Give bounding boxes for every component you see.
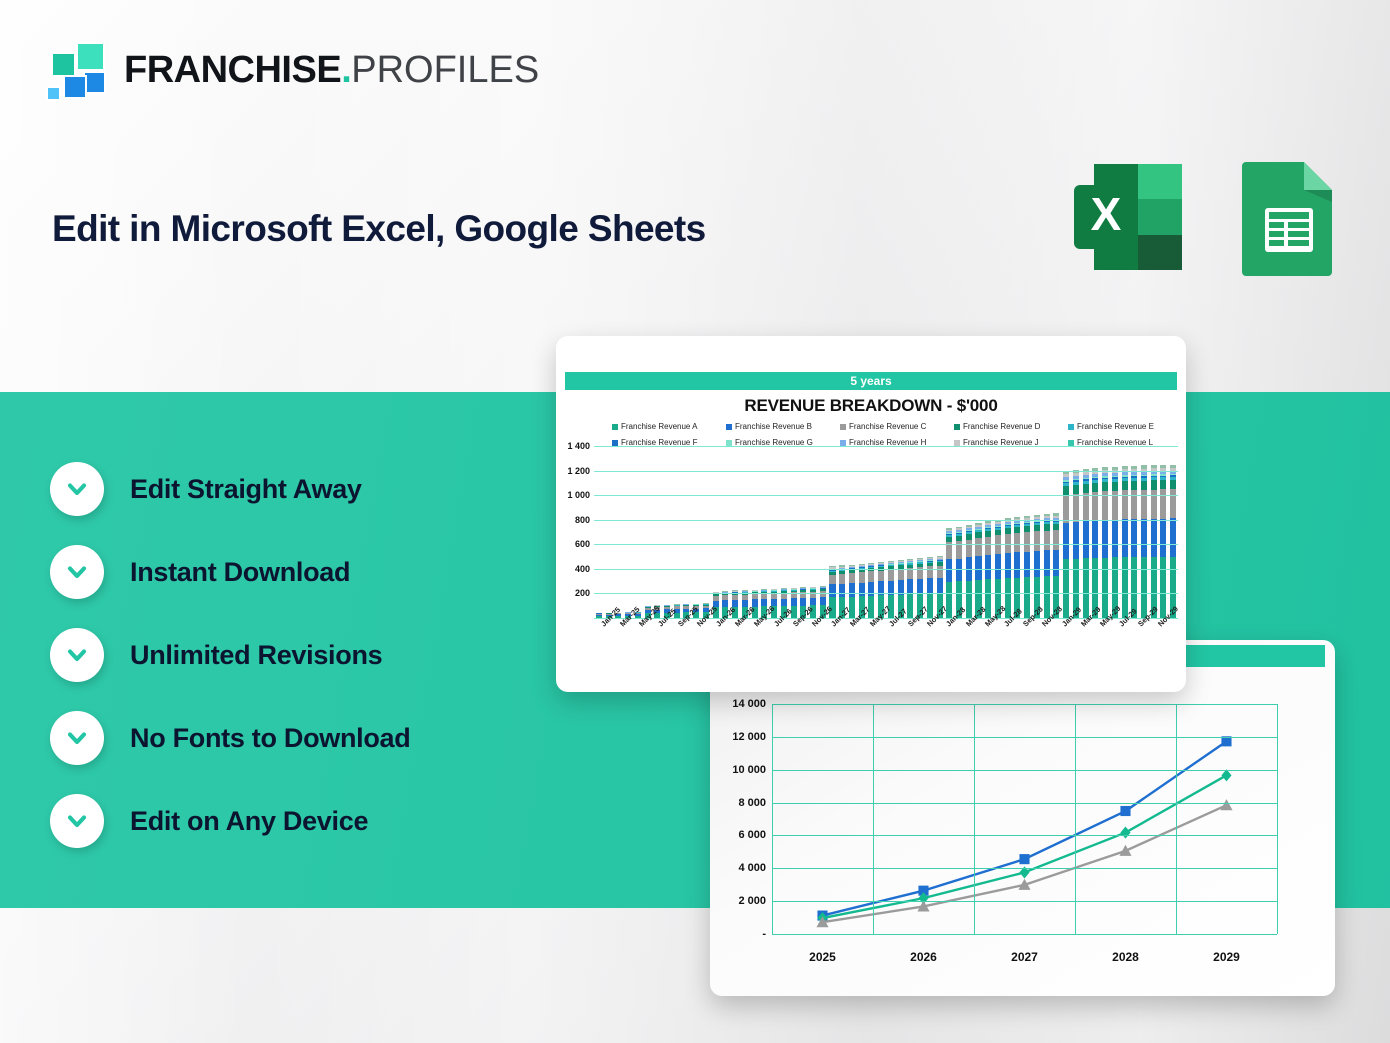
bar-slot [1159, 446, 1169, 618]
x-axis-tick-label: 2028 [1112, 950, 1139, 964]
chevron-down-icon [50, 545, 104, 599]
bar-slot [1139, 446, 1149, 618]
line-series [822, 775, 1226, 918]
bar-segment [1083, 493, 1089, 521]
bar-segment [1092, 492, 1098, 521]
revenue-breakdown-card: 5 years REVENUE BREAKDOWN - $'000 Franch… [556, 336, 1186, 692]
legend-label: Franchise Revenue B [735, 422, 812, 431]
y-axis-tick-label: 1 400 [567, 441, 590, 451]
stacked-bar[interactable] [1131, 466, 1137, 618]
y-axis-tick-label: 600 [575, 539, 590, 549]
bar-segment [937, 578, 943, 594]
bar-slot [779, 446, 789, 618]
bar-segment [1131, 519, 1137, 557]
list-item[interactable]: Edit Straight Away [50, 462, 410, 516]
y-axis-tick-label: 1 000 [567, 490, 590, 500]
bar-slot [847, 446, 857, 618]
bar-slot [886, 446, 896, 618]
bar-slot [798, 446, 808, 618]
bar-slot [974, 446, 984, 618]
stacked-bar[interactable] [1141, 465, 1147, 618]
stacked-bar[interactable] [907, 559, 913, 618]
gridline-vertical [974, 704, 975, 934]
legend-swatch [840, 424, 846, 430]
gridline [594, 569, 1178, 570]
gridline [594, 520, 1178, 521]
stacked-bar[interactable] [1092, 468, 1098, 618]
feature-label: Edit Straight Away [130, 474, 362, 505]
stacked-bar[interactable] [1122, 466, 1128, 618]
bar-slot [662, 446, 672, 618]
bar-segment [1102, 558, 1108, 618]
gridline-vertical [1176, 704, 1177, 934]
bar-segment [1141, 519, 1147, 557]
bar-segment [888, 570, 894, 581]
bar-slot [1110, 446, 1120, 618]
bar-slot [1149, 446, 1159, 618]
bar-segment [1170, 489, 1176, 518]
bar-slot [983, 446, 993, 618]
data-point-marker[interactable] [1019, 854, 1029, 864]
stacked-bar[interactable] [1024, 516, 1030, 618]
bar-slot [837, 446, 847, 618]
feature-label: Instant Download [130, 557, 350, 588]
bar-segment [1063, 495, 1069, 523]
chevron-down-icon [50, 794, 104, 848]
bar-segment [829, 575, 835, 585]
bar-slot [964, 446, 974, 618]
bar-segment [985, 555, 991, 579]
microsoft-excel-icon: X [1064, 152, 1194, 282]
revenue-chart-y-axis: 1 4001 2001 000800600400200 [556, 446, 594, 618]
gross-margin-card: ber 2029 oss Margin 14 00012 00010 0008 … [710, 640, 1335, 996]
bar-slot [808, 446, 818, 618]
bar-slot [1022, 446, 1032, 618]
bar-segment [1053, 530, 1059, 550]
bar-segment [742, 600, 748, 607]
chevron-down-icon [50, 711, 104, 765]
bar-segment [1034, 531, 1040, 551]
bar-segment [1122, 557, 1128, 618]
bar-slot [613, 446, 623, 618]
bar-slot [604, 446, 614, 618]
bar-slot [1032, 446, 1042, 618]
bar-slot [1052, 446, 1062, 618]
bar-segment [761, 599, 767, 606]
bar-segment [927, 578, 933, 593]
bar-slot [633, 446, 643, 618]
bar-segment [1024, 532, 1030, 551]
bar-segment [1024, 552, 1030, 578]
bar-slot [1129, 446, 1139, 618]
gridline [772, 868, 1277, 869]
x-axis-tick-label: 2027 [1011, 950, 1038, 964]
bar-segment [752, 599, 758, 606]
gridline [772, 901, 1277, 902]
gridline [594, 446, 1178, 447]
bar-slot [1120, 446, 1130, 618]
app-icons-group: X [1064, 152, 1352, 282]
bar-segment [1034, 551, 1040, 577]
gridline-vertical [873, 704, 874, 934]
legend-label: Franchise Revenue A [621, 422, 698, 431]
stacked-bar[interactable] [1112, 467, 1118, 618]
y-axis-tick-label: 1 200 [567, 466, 590, 476]
bar-segment [1073, 485, 1079, 494]
bar-segment [732, 600, 738, 607]
bar-segment [1092, 520, 1098, 558]
gridline [772, 934, 1277, 935]
bar-segment [946, 582, 952, 618]
bar-segment [917, 579, 923, 594]
bar-segment [1160, 489, 1166, 518]
bar-segment [829, 584, 835, 597]
bar-segment [995, 554, 1001, 579]
stacked-bar[interactable] [966, 525, 972, 618]
stacked-bar[interactable] [1053, 513, 1059, 618]
brand-name-light: PROFILES [351, 49, 539, 91]
gross-margin-plot [772, 704, 1277, 934]
bar-slot [1100, 446, 1110, 618]
bar-segment [975, 538, 981, 556]
bar-slot [954, 446, 964, 618]
bar-segment [1102, 520, 1108, 558]
bar-segment [868, 571, 874, 582]
gridline [594, 495, 1178, 496]
y-axis-tick-label: 400 [575, 564, 590, 574]
bar-slot [740, 446, 750, 618]
legend-item: Franchise Revenue A [612, 420, 724, 433]
bar-segment [1053, 550, 1059, 576]
bar-slot [896, 446, 906, 618]
legend-swatch [726, 424, 732, 430]
gridline [594, 471, 1178, 472]
legend-item: Franchise Revenue B [726, 420, 838, 433]
data-point-marker[interactable] [1120, 806, 1130, 816]
legend-swatch [840, 440, 846, 446]
bar-slot [925, 446, 935, 618]
gross-margin-y-axis: 14 00012 00010 0008 0006 0004 0002 000- [710, 704, 772, 934]
bar-segment [898, 569, 904, 580]
stacked-bar[interactable] [956, 526, 962, 618]
bar-slot [643, 446, 653, 618]
bar-segment [937, 566, 943, 578]
data-point-marker[interactable] [1221, 769, 1231, 781]
legend-label: Franchise Revenue D [963, 422, 1040, 431]
brand-name-bold: FRANCHISE [124, 49, 341, 91]
x-axis-tick-label: 2026 [910, 950, 937, 964]
bar-slot [730, 446, 740, 618]
bar-slot [594, 446, 604, 618]
bar-slot [721, 446, 731, 618]
bar-segment [1122, 481, 1128, 490]
stacked-bar[interactable] [1014, 517, 1020, 618]
bar-slot [935, 446, 945, 618]
bar-slot [857, 446, 867, 618]
bar-slot [750, 446, 760, 618]
bar-segment [878, 571, 884, 582]
gridline-vertical [1277, 704, 1278, 934]
bar-segment [839, 584, 845, 597]
stacked-bar[interactable] [1044, 514, 1050, 618]
bar-segment [1063, 523, 1069, 560]
bar-segment [1160, 519, 1166, 557]
bar-slot [759, 446, 769, 618]
stacked-bar[interactable] [946, 528, 952, 618]
bar-slot [828, 446, 838, 618]
bar-segment [956, 559, 962, 582]
gridline [594, 544, 1178, 545]
feature-list: Edit Straight Away Instant Download Unli… [50, 462, 410, 848]
bar-segment [1112, 520, 1118, 558]
y-axis-tick-label: 200 [575, 588, 590, 598]
legend-item: Franchise Revenue C [840, 420, 952, 433]
bar-segment [1131, 481, 1137, 490]
bar-slot [682, 446, 692, 618]
bar-segment [966, 581, 972, 618]
stacked-bar[interactable] [1160, 465, 1166, 618]
bar-slot [818, 446, 828, 618]
gridline-vertical [1075, 704, 1076, 934]
bar-segment [1083, 558, 1089, 618]
bar-segment [1141, 481, 1147, 490]
gridline-vertical [772, 704, 773, 934]
data-point-marker[interactable] [1119, 845, 1131, 856]
chevron-down-icon [50, 462, 104, 516]
y-axis-tick-label: 4 000 [738, 862, 766, 874]
bar-segment [907, 579, 913, 594]
gross-margin-x-axis: 20252026202720282029 [772, 950, 1277, 970]
brand-wordmark: FRANCHISE.PROFILES [124, 51, 539, 89]
gridline [772, 803, 1277, 804]
legend-swatch [726, 440, 732, 446]
revenue-chart-legend: Franchise Revenue AFranchise Revenue BFr… [612, 420, 1180, 449]
legend-item: Franchise Revenue E [1068, 420, 1180, 433]
bar-segment [1092, 483, 1098, 492]
bar-slot [1013, 446, 1023, 618]
y-axis-tick-label: 12 000 [732, 731, 766, 743]
bar-segment [1141, 557, 1147, 618]
bar-segment [1044, 531, 1050, 551]
bar-slot [623, 446, 633, 618]
bar-slot [711, 446, 721, 618]
bar-slot [1061, 446, 1071, 618]
bar-segment [791, 598, 797, 606]
bar-slot [1081, 446, 1091, 618]
bar-segment [946, 559, 952, 582]
bar-slot [876, 446, 886, 618]
y-axis-tick-label: 10 000 [732, 764, 766, 776]
revenue-chart-x-axis: Jan-25Mar-25May-25Jul-25Sep-25Nov-25Jan-… [594, 620, 1178, 682]
bar-segment [849, 573, 855, 583]
bar-segment [1014, 552, 1020, 577]
bar-segment [1102, 482, 1108, 491]
bar-segment [1063, 486, 1069, 495]
feature-label: Unlimited Revisions [130, 640, 382, 671]
bar-segment [1112, 482, 1118, 491]
legend-swatch [954, 440, 960, 446]
legend-label: Franchise Revenue C [849, 422, 926, 431]
gridline [772, 835, 1277, 836]
bar-segment [839, 574, 845, 584]
bar-segment [849, 583, 855, 596]
feature-label: No Fonts to Download [130, 723, 410, 754]
bar-slot [789, 446, 799, 618]
x-axis-tick-label: 2029 [1213, 950, 1240, 964]
bar-segment [1073, 494, 1079, 522]
stacked-bar[interactable] [1102, 467, 1108, 618]
bar-slot [701, 446, 711, 618]
revenue-card-banner: 5 years [565, 372, 1177, 390]
bar-segment [1083, 521, 1089, 558]
y-axis-tick-label: 6 000 [738, 829, 766, 841]
bar-slot [906, 446, 916, 618]
y-axis-tick-label: - [762, 928, 766, 940]
legend-item: Franchise Revenue D [954, 420, 1066, 433]
bar-slot [1071, 446, 1081, 618]
bar-segment [781, 599, 787, 606]
logo-mark-icon [44, 42, 106, 97]
feature-label: Edit on Any Device [130, 806, 368, 837]
data-point-marker[interactable] [1120, 827, 1130, 839]
bar-slot [1090, 446, 1100, 618]
gridline [772, 770, 1277, 771]
bar-segment [722, 600, 728, 607]
bar-segment [1160, 480, 1166, 489]
legend-swatch [612, 424, 618, 430]
bar-slot [672, 446, 682, 618]
list-item[interactable]: No Fonts to Download [50, 711, 410, 765]
bar-segment [810, 598, 816, 606]
bar-slot [993, 446, 1003, 618]
legend-swatch [612, 440, 618, 446]
data-point-marker[interactable] [1220, 799, 1232, 810]
page-headline: Edit in Microsoft Excel, Google Sheets [52, 208, 706, 250]
bar-slot [1042, 446, 1052, 618]
bar-segment [1044, 550, 1050, 576]
bar-slot [691, 446, 701, 618]
y-axis-tick-label: 8 000 [738, 797, 766, 809]
svg-text:X: X [1091, 188, 1122, 240]
bar-slot [915, 446, 925, 618]
bar-segment [1122, 519, 1128, 557]
x-axis-tick-label: 2025 [809, 950, 836, 964]
bar-segment [1170, 518, 1176, 556]
legend-swatch [1068, 440, 1074, 446]
legend-swatch [1068, 424, 1074, 430]
gridline [772, 737, 1277, 738]
bar-segment [985, 537, 991, 555]
bar-segment [1151, 490, 1157, 519]
y-axis-tick-label: 14 000 [732, 698, 766, 710]
bar-segment [1170, 480, 1176, 489]
y-axis-tick-label: 2 000 [738, 895, 766, 907]
bar-segment [1083, 484, 1089, 493]
list-item[interactable]: Instant Download [50, 545, 410, 599]
bar-segment [1160, 557, 1166, 618]
list-item[interactable]: Unlimited Revisions [50, 628, 410, 682]
revenue-chart-plot [594, 446, 1178, 618]
bar-segment [1151, 519, 1157, 557]
bar-slot [867, 446, 877, 618]
bar-slot [769, 446, 779, 618]
google-sheets-icon [1222, 152, 1352, 282]
bar-segment [1151, 480, 1157, 489]
bar-slot [944, 446, 954, 618]
legend-swatch [954, 424, 960, 430]
brand-dot: . [341, 49, 351, 91]
legend-label: Franchise Revenue E [1077, 422, 1154, 431]
bar-segment [859, 572, 865, 582]
bar-slot [1168, 446, 1178, 618]
bar-segment [1014, 533, 1020, 552]
gridline [772, 704, 1277, 705]
stacked-bar[interactable] [1151, 465, 1157, 618]
chevron-down-icon [50, 628, 104, 682]
brand-logo: FRANCHISE.PROFILES [44, 42, 539, 97]
y-axis-tick-label: 800 [575, 515, 590, 525]
revenue-chart-bars [594, 446, 1178, 618]
list-item[interactable]: Edit on Any Device [50, 794, 410, 848]
bar-slot [1003, 446, 1013, 618]
stacked-bar[interactable] [1170, 465, 1176, 618]
bar-segment [898, 580, 904, 595]
bar-segment [820, 597, 826, 605]
bar-segment [966, 540, 972, 558]
bar-segment [1073, 522, 1079, 559]
bar-segment [800, 598, 806, 606]
bar-segment [1005, 553, 1011, 578]
gridline [594, 593, 1178, 594]
stacked-bar[interactable] [1034, 515, 1040, 618]
bar-slot [652, 446, 662, 618]
revenue-chart-title: REVENUE BREAKDOWN - $'000 [556, 396, 1186, 416]
